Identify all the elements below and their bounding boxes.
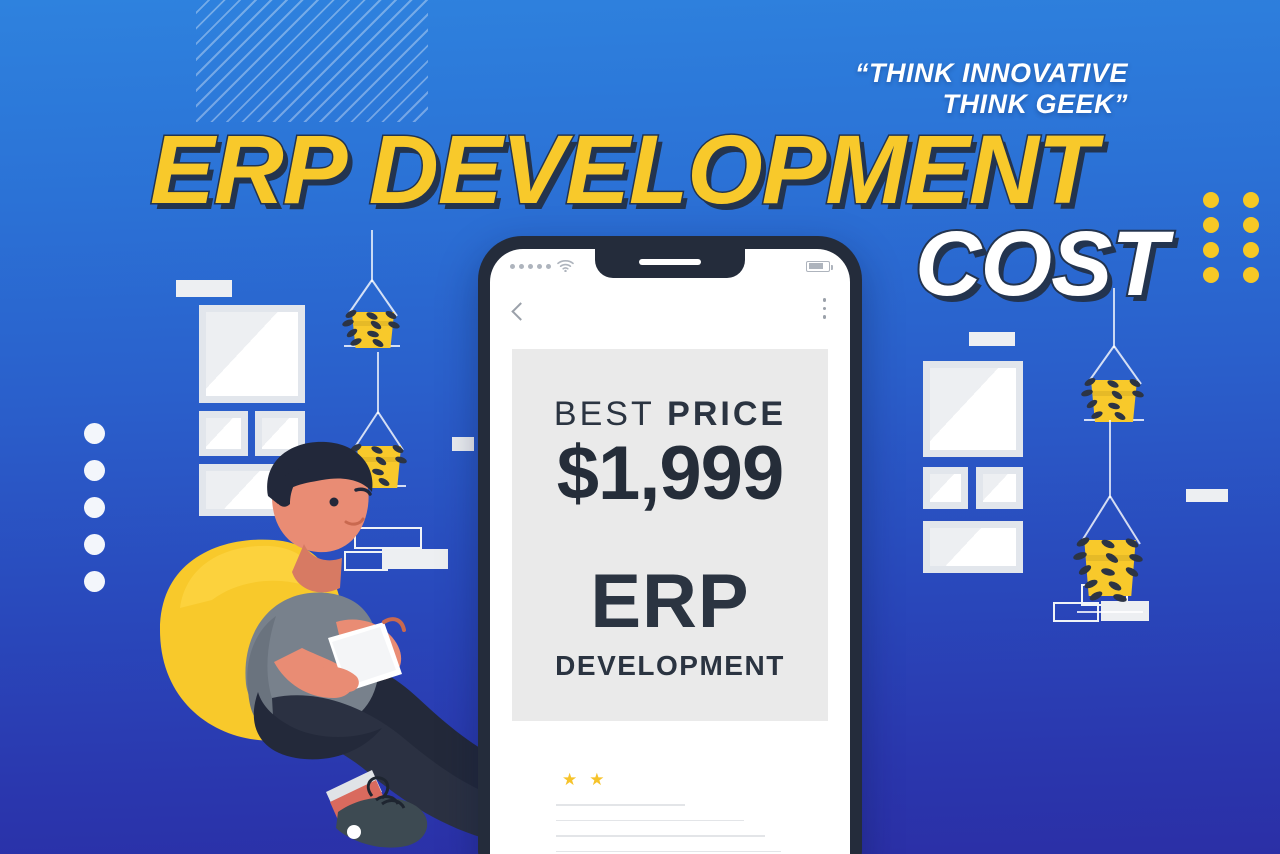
kebab-menu-icon[interactable] xyxy=(823,298,827,324)
dot xyxy=(1243,267,1259,283)
planter-vines xyxy=(1068,420,1152,616)
rating-stars: ★ ★ xyxy=(562,771,605,788)
erp-cost-banner: “THINK INNOVATIVE THINK GEEK” ERP DEVELO… xyxy=(0,0,1280,854)
card-title: ERP xyxy=(590,564,749,640)
dot xyxy=(1243,242,1259,258)
picture-frame xyxy=(976,467,1023,509)
dot xyxy=(1203,242,1219,258)
dot xyxy=(84,423,105,444)
placeholder-lines xyxy=(556,804,824,854)
tagline: “THINK INNOVATIVE THINK GEEK” xyxy=(798,58,1128,121)
eyebrow-light: BEST xyxy=(554,395,655,433)
dot xyxy=(84,571,105,592)
decor-bar xyxy=(1186,489,1228,502)
decor-bar xyxy=(969,332,1015,346)
headline-line-2: COST xyxy=(915,218,1167,310)
hanging-planter xyxy=(338,230,406,348)
dot xyxy=(84,460,105,481)
dot xyxy=(1203,192,1219,208)
dot xyxy=(84,534,105,555)
planter-vines xyxy=(338,230,406,348)
right-dot-grid xyxy=(1203,192,1263,283)
phone-status-bar xyxy=(490,249,850,283)
placeholder-line xyxy=(556,851,781,853)
hanging-planter xyxy=(1068,420,1152,616)
diagonal-hatch-pattern xyxy=(196,0,428,122)
price-value: $1,999 xyxy=(557,436,783,512)
dot xyxy=(1203,217,1219,233)
placeholder-line xyxy=(556,804,685,806)
star-icon: ★ xyxy=(562,771,577,788)
picture-frame xyxy=(923,521,1023,573)
eyebrow-bold: PRICE xyxy=(667,395,786,433)
back-chevron-icon[interactable] xyxy=(511,302,529,320)
star-icon: ★ xyxy=(589,771,604,788)
placeholder-line xyxy=(556,820,744,822)
wifi-icon xyxy=(557,260,574,272)
best-price-eyebrow: BEST PRICE xyxy=(554,395,786,434)
dot xyxy=(84,497,105,518)
phone-screen: BEST PRICE $1,999 ERP DEVELOPMENT ★ ★ xyxy=(490,249,850,854)
signal-dots-icon xyxy=(510,264,551,269)
tagline-line-1: “THINK INNOVATIVE xyxy=(798,58,1128,89)
decor-bar xyxy=(176,280,232,297)
placeholder-line xyxy=(556,835,765,837)
phone-mockup: BEST PRICE $1,999 ERP DEVELOPMENT ★ ★ xyxy=(478,236,862,854)
phone-nav-row xyxy=(490,283,850,339)
picture-frame xyxy=(923,361,1023,457)
battery-icon xyxy=(806,261,830,272)
dot xyxy=(1243,217,1259,233)
headline-line-1: ERP DEVELOPMENT xyxy=(150,121,1096,218)
picture-frame xyxy=(923,467,968,509)
picture-frame xyxy=(199,305,305,403)
person-eye xyxy=(330,498,339,507)
card-subtitle: DEVELOPMENT xyxy=(555,650,785,682)
price-card: BEST PRICE $1,999 ERP DEVELOPMENT xyxy=(512,349,828,721)
left-dot-column xyxy=(84,423,108,608)
dot xyxy=(1243,192,1259,208)
dot xyxy=(1203,267,1219,283)
